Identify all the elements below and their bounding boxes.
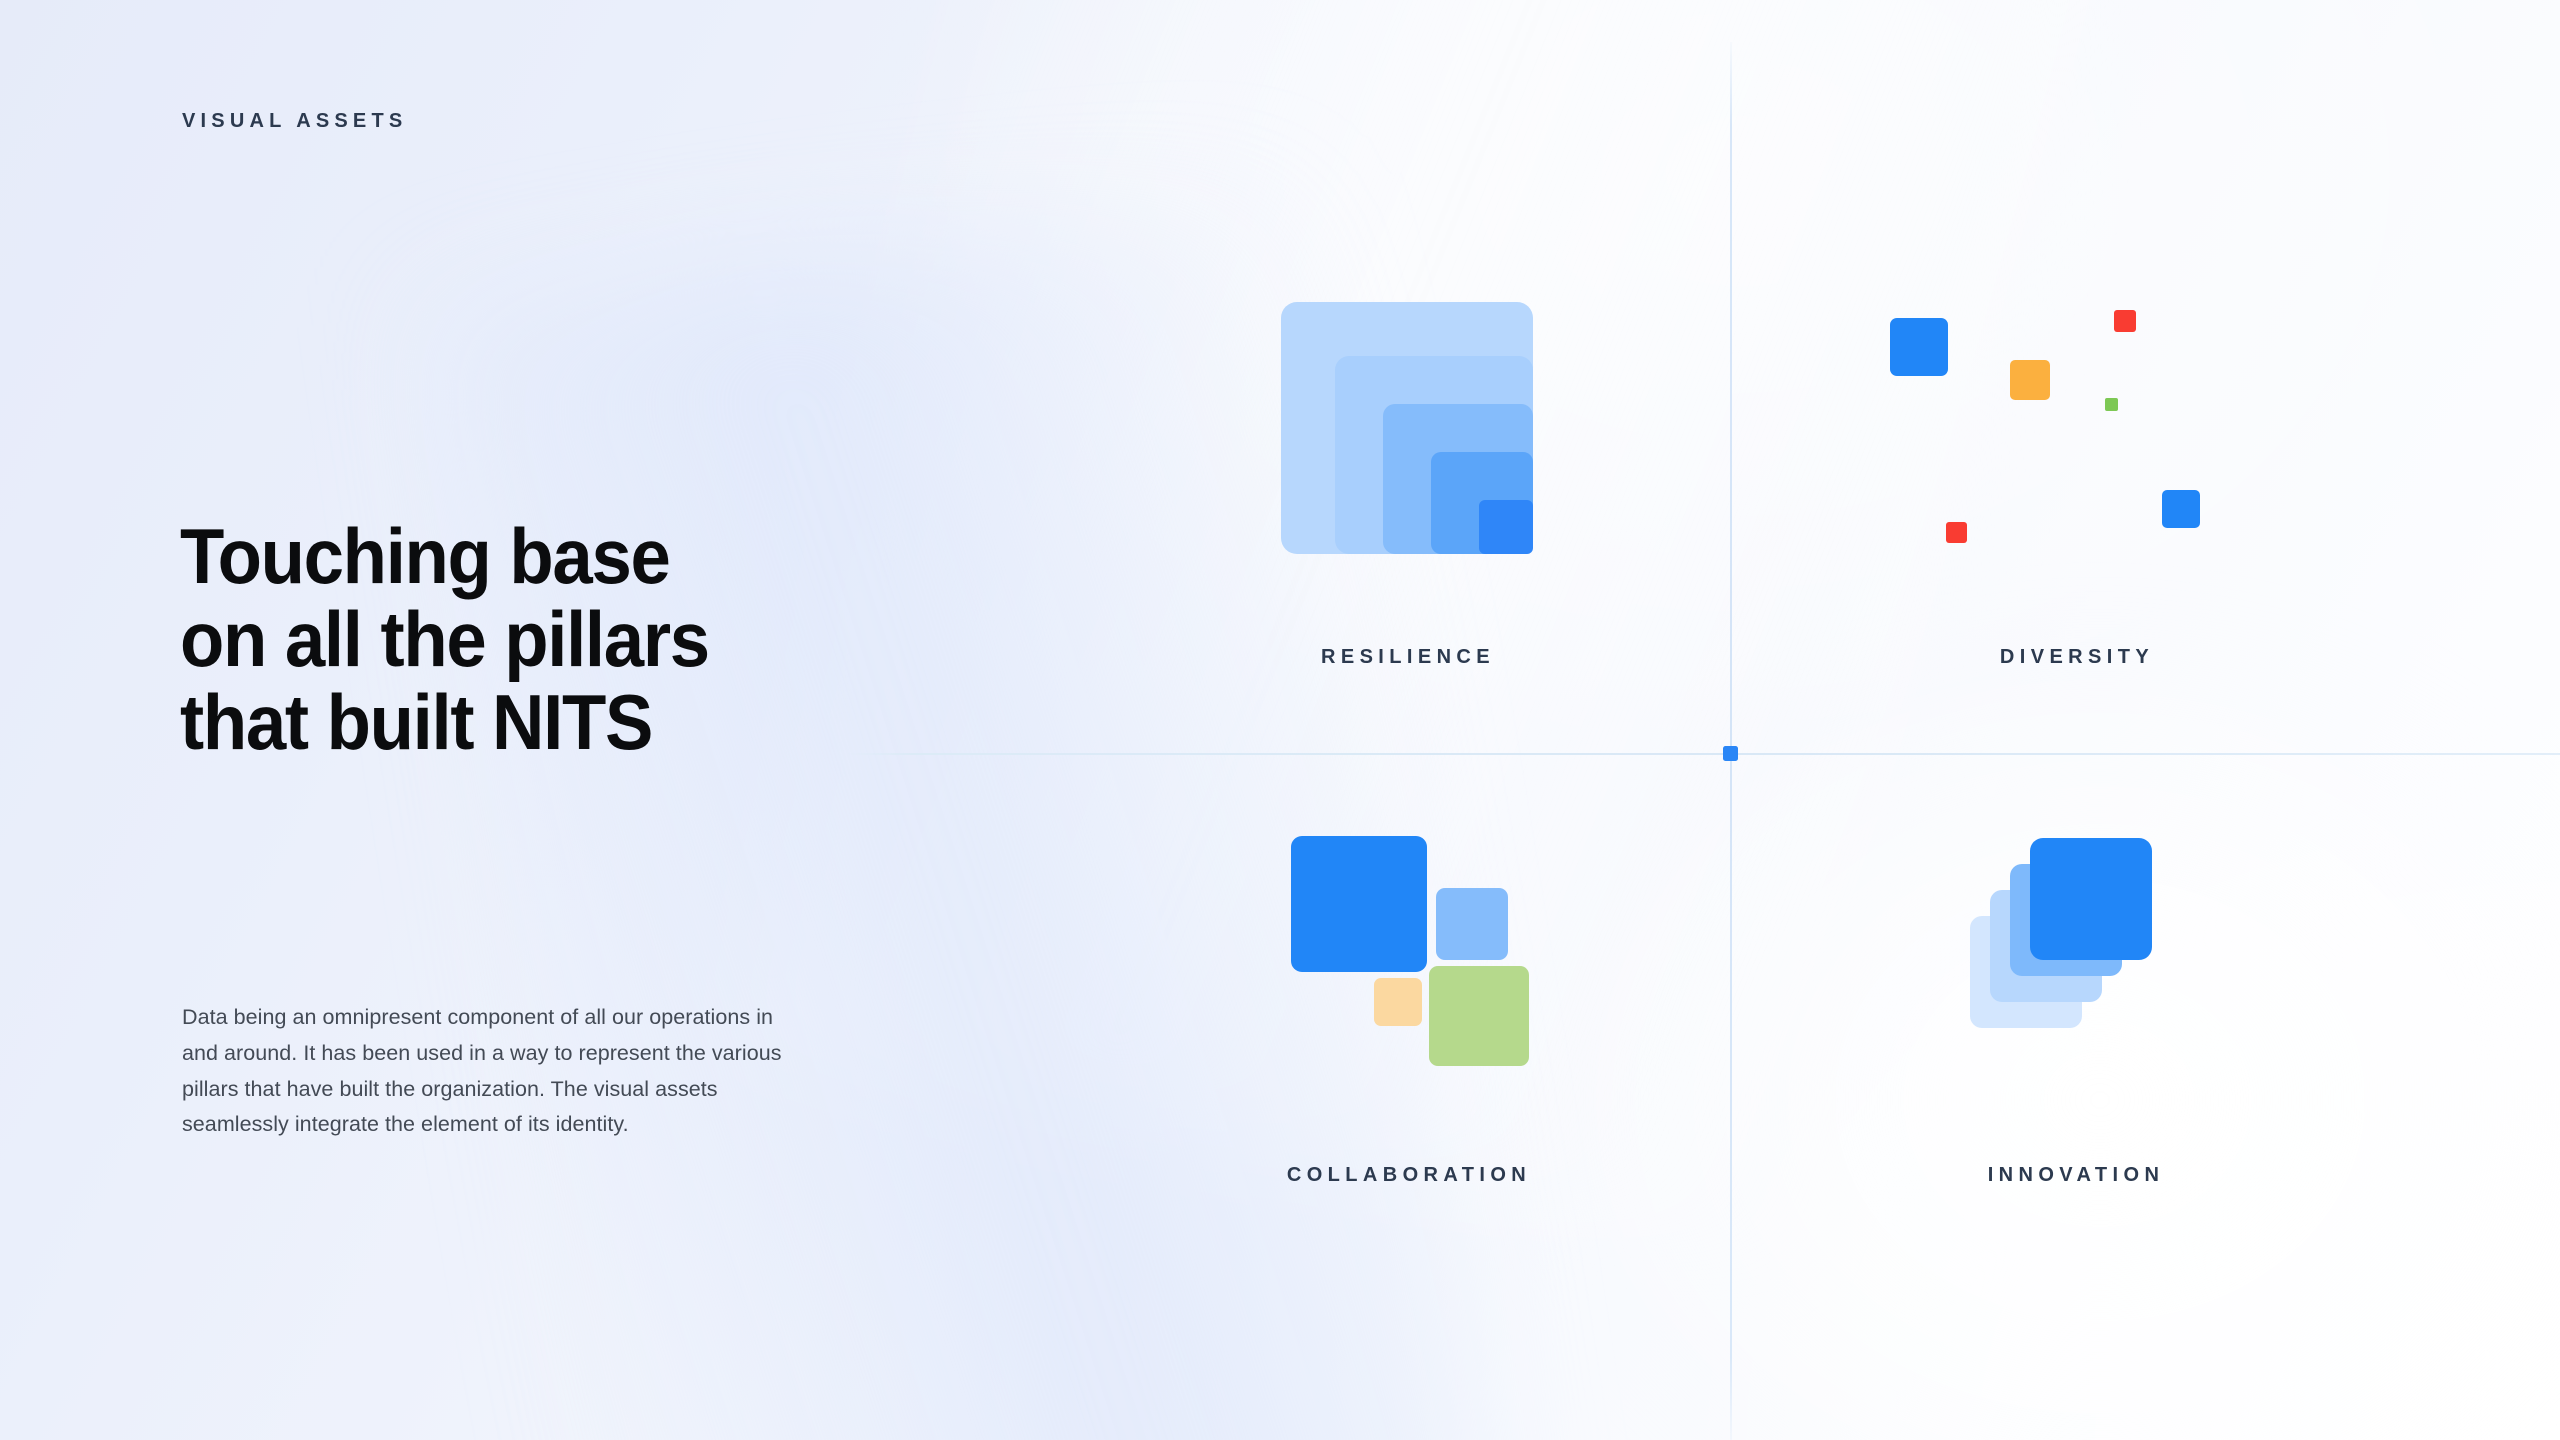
crosshair-center-marker (1723, 746, 1738, 761)
innovation-square-4 (2030, 838, 2152, 960)
diversity-square-5 (2162, 490, 2200, 528)
quadrant-label-resilience: RESILIENCE (1321, 646, 1495, 669)
diversity-square-6 (1946, 522, 1967, 543)
body-paragraph: Data being an omnipresent component of a… (182, 1000, 782, 1143)
quadrant-label-collaboration: COLLABORATION (1287, 1164, 1531, 1187)
quadrant-label-diversity: DIVERSITY (2000, 646, 2154, 669)
diversity-square-4 (2105, 398, 2118, 411)
horizontal-divider (846, 753, 2560, 755)
page-title: Touching base on all the pillars that bu… (180, 515, 709, 764)
eyebrow-label: VISUAL ASSETS (182, 110, 407, 133)
resilience-layer-5 (1479, 500, 1533, 554)
collaboration-square-1 (1291, 836, 1427, 972)
collaboration-graphic (1291, 836, 1536, 1066)
vertical-divider (1730, 42, 1732, 1440)
diversity-square-2 (2114, 310, 2136, 332)
slide-canvas: VISUAL ASSETS Touching base on all the p… (0, 0, 2560, 1440)
collaboration-square-3 (1374, 978, 1422, 1026)
collaboration-square-4 (1429, 966, 1529, 1066)
diversity-square-1 (1890, 318, 1948, 376)
collaboration-square-2 (1436, 888, 1508, 960)
innovation-graphic (1970, 838, 2190, 1058)
resilience-graphic (1281, 311, 1533, 554)
diversity-graphic (1890, 310, 2240, 560)
diversity-square-3 (2010, 360, 2050, 400)
quadrant-label-innovation: INNOVATION (1988, 1164, 2165, 1187)
background-sheen-left (736, 0, 2124, 1278)
